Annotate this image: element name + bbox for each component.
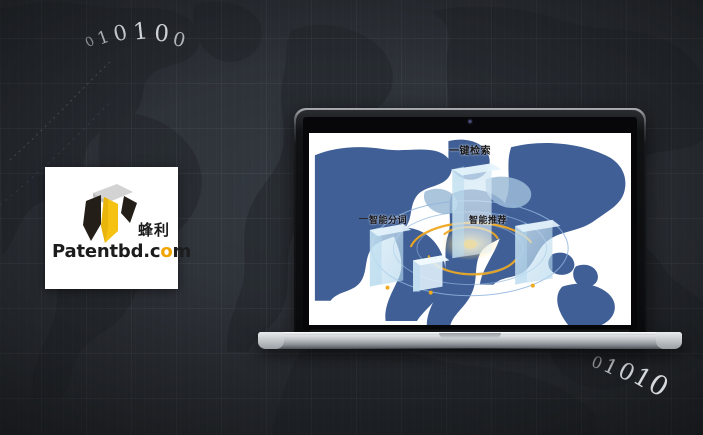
laptop-screen[interactable]: 一键检索 智能分词 智能推荐 [309, 133, 631, 325]
screen-infographic [309, 133, 631, 325]
logo-card[interactable]: 蜂利 Patentbd.com [45, 167, 178, 289]
label-leader-dash [359, 218, 368, 219]
screen-label-smart-recommend: 智能推荐 [469, 213, 507, 226]
screen-label-word-segmentation: 智能分词 [369, 213, 407, 226]
screen-label-one-click-search: 一键检索 [449, 142, 491, 157]
laptop-device: 一键检索 智能分词 智能推荐 [258, 108, 682, 363]
webcam-icon [469, 120, 472, 123]
logo-domain-highlight: o [160, 241, 172, 262]
laptop-base-cap-left [258, 332, 284, 349]
laptop-lid: 一键检索 智能分词 智能推荐 [294, 108, 646, 336]
screenshot-root: 0 1 0 1 0 0 0 1 0 1 0 蜂利 [0, 0, 703, 435]
laptop-base-notch [439, 333, 501, 338]
logo-domain-prefix: Patentbd.c [52, 241, 160, 262]
laptop-drop-shadow [282, 348, 658, 362]
logo-domain-text: Patentbd.com [52, 243, 172, 261]
laptop-base-cap-right [656, 332, 682, 349]
logo-chinese-name: 蜂利 [138, 223, 170, 238]
laptop-bezel: 一键检索 智能分词 智能推荐 [303, 117, 637, 330]
laptop-base [258, 332, 682, 349]
logo-domain-suffix: m [173, 241, 192, 262]
